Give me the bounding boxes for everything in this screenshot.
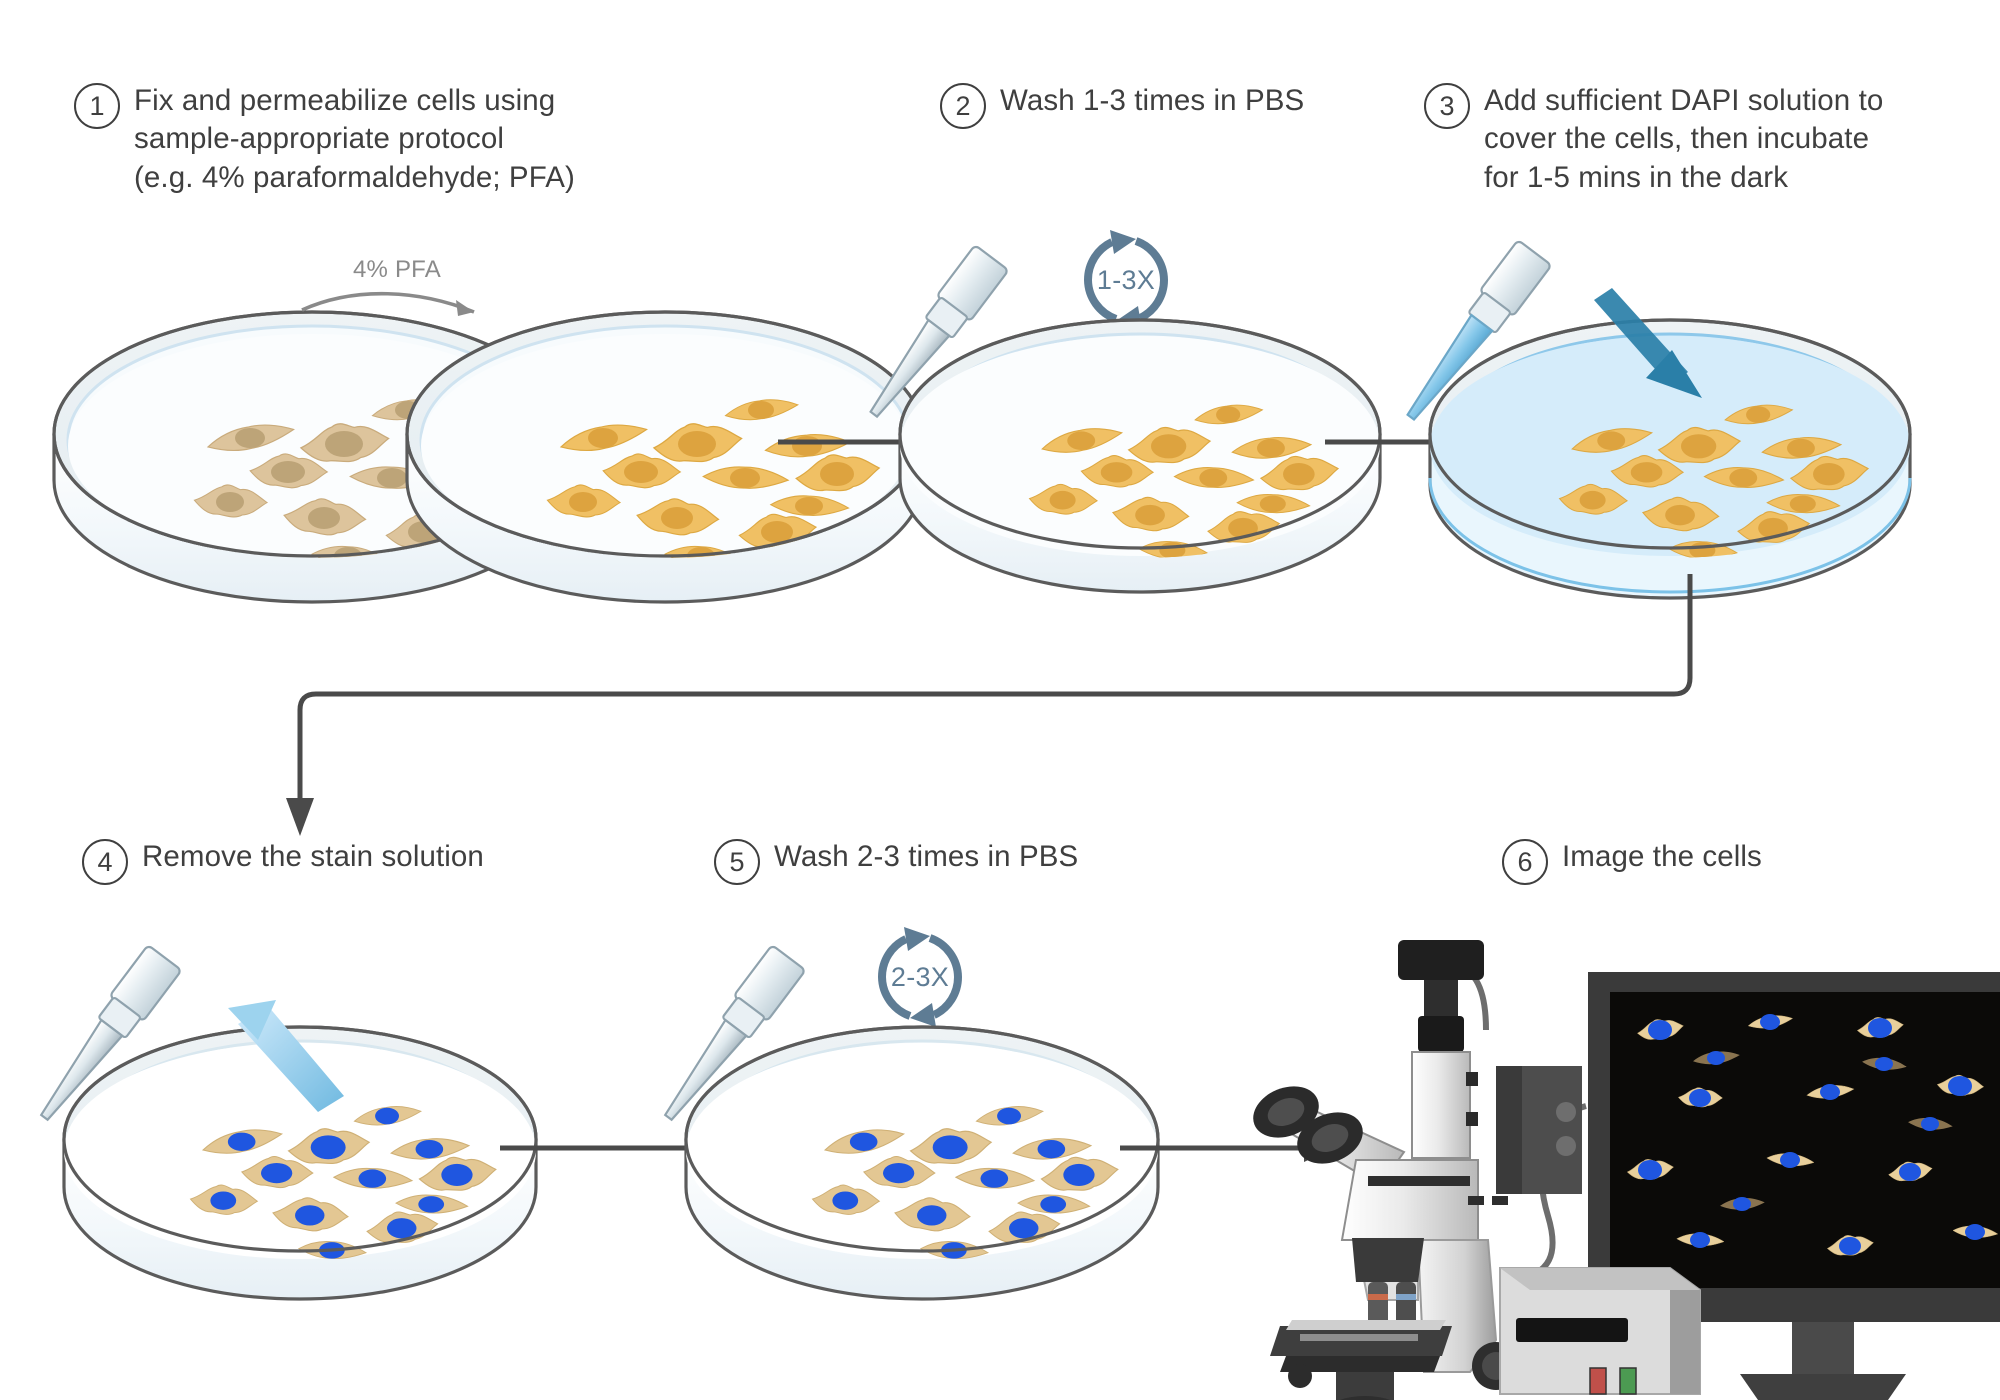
microscope-and-monitor [1245, 940, 2000, 1400]
petri-dish-wash-stained [686, 1027, 1158, 1299]
petri-dish-fixed-cells [407, 312, 923, 602]
flow-connector-row1-to-row2 [286, 574, 1690, 836]
petri-dish-wash-pbs [900, 320, 1380, 592]
camera-icon [1398, 940, 1484, 980]
diagram-canvas: 1 Fix and permeabilize cells using sampl… [0, 0, 2000, 1400]
control-box-icon [1500, 1268, 1700, 1394]
illustration-layer [0, 0, 2000, 1400]
